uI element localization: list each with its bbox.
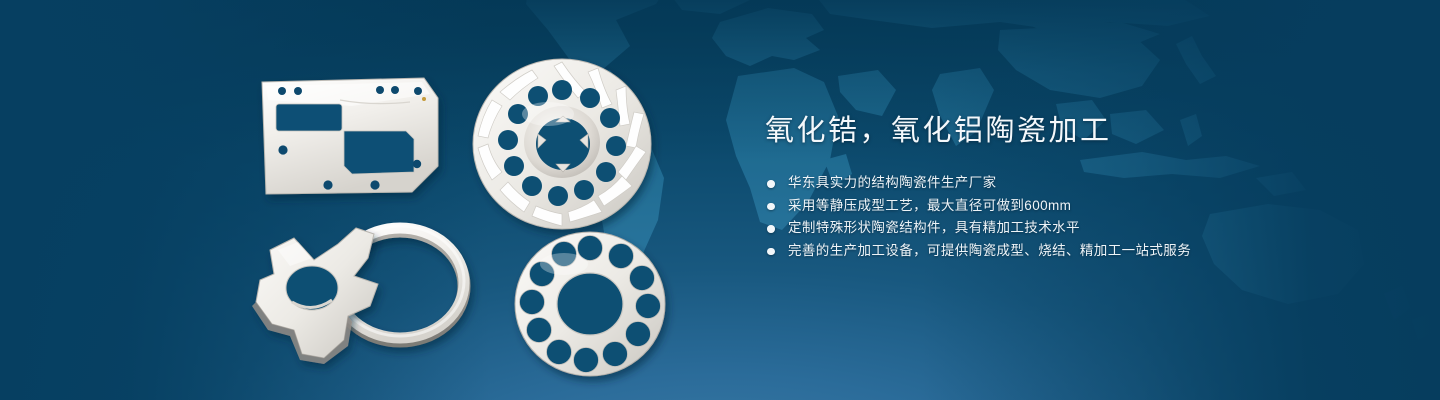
ceramic-impeller-disc-photo: [473, 59, 651, 229]
bullet-dot-icon: [767, 203, 775, 211]
page-title: 氧化锆，氧化铝陶瓷加工: [765, 112, 1385, 150]
bullet-dot-icon: [767, 248, 775, 256]
ceramic-holed-flange-disc-photo: [515, 232, 665, 376]
bullet-dot-icon: [767, 225, 775, 233]
banner-copy: 氧化锆，氧化铝陶瓷加工 华东具实力的结构陶瓷件生产厂家 采用等静压成型工艺，最大…: [765, 112, 1385, 262]
ceramic-products-image: [232, 34, 702, 384]
feature-list: 华东具实力的结构陶瓷件生产厂家 采用等静压成型工艺，最大直径可做到600mm 定…: [765, 172, 1385, 262]
bullet-dot-icon: [767, 180, 775, 188]
list-item: 华东具实力的结构陶瓷件生产厂家: [765, 172, 1385, 195]
feature-text: 定制特殊形状陶瓷结构件，具有精加工技术水平: [788, 220, 1080, 235]
list-item: 采用等静压成型工艺，最大直径可做到600mm: [765, 195, 1385, 218]
feature-text: 华东具实力的结构陶瓷件生产厂家: [788, 175, 997, 190]
ceramic-machined-plate-photo: [262, 78, 438, 194]
feature-text: 完善的生产加工设备，可提供陶瓷成型、烧结、精加工一站式服务: [788, 243, 1191, 258]
feature-text: 采用等静压成型工艺，最大直径可做到600mm: [788, 198, 1071, 213]
ceramic-cross-plate-photo: [252, 228, 378, 364]
list-item: 完善的生产加工设备，可提供陶瓷成型、烧结、精加工一站式服务: [765, 240, 1385, 263]
hero-banner: 氧化锆，氧化铝陶瓷加工 华东具实力的结构陶瓷件生产厂家 采用等静压成型工艺，最大…: [0, 0, 1440, 400]
list-item: 定制特殊形状陶瓷结构件，具有精加工技术水平: [765, 217, 1385, 240]
